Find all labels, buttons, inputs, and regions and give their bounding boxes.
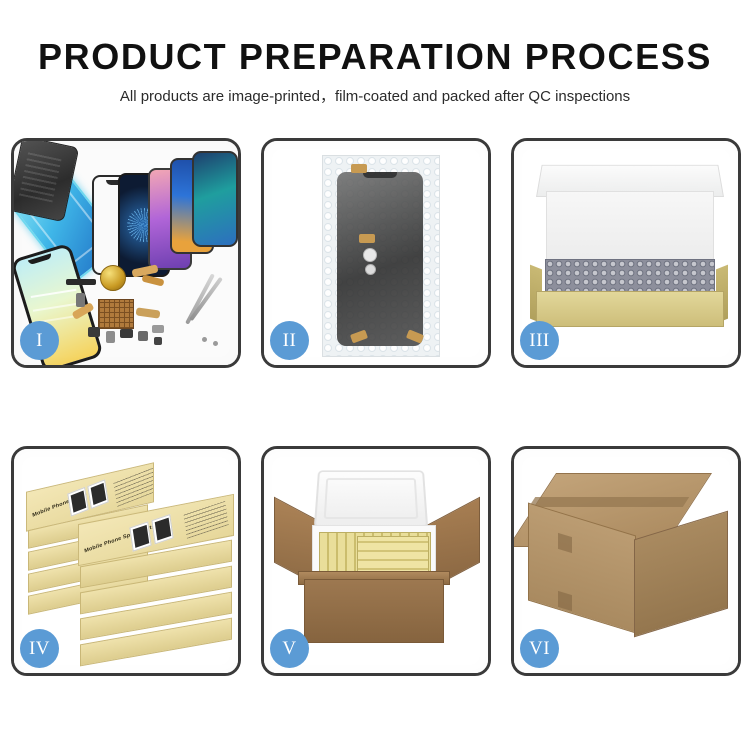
carton-front-image	[304, 579, 444, 643]
carton-sealing-tape-image	[529, 497, 689, 507]
foam-lid-image	[314, 470, 428, 528]
chip-array-image	[98, 299, 134, 329]
earpiece-speaker-image	[66, 279, 96, 285]
process-step-panel-6[interactable]: VI	[511, 446, 741, 676]
box-back-wall-image	[546, 191, 714, 263]
box-spec-list-image	[113, 466, 154, 507]
box-phone-thumbnail-image	[151, 514, 173, 544]
small-component-image	[154, 337, 162, 345]
page-subtitle: All products are image-printed，film-coat…	[0, 87, 750, 107]
sensor-module-image	[365, 264, 376, 275]
small-component-image	[106, 331, 115, 343]
box-phone-thumbnail-image	[67, 487, 89, 517]
step-badge-4: IV	[20, 629, 59, 668]
bubble-wrap-bag-image	[322, 155, 440, 357]
screen-assembly-image	[337, 172, 423, 346]
small-component-image	[76, 293, 85, 307]
small-component-image	[152, 325, 164, 333]
step-badge-5: V	[270, 629, 309, 668]
process-step-panel-4[interactable]: Mobile Phone Spare Parts Mobile Phone Sp…	[11, 446, 241, 676]
small-component-image	[138, 331, 148, 341]
flex-cable-image	[136, 307, 161, 318]
box-front-panel-image	[536, 291, 724, 327]
camera-module-image	[363, 248, 377, 262]
phone-teal-display-image	[192, 151, 238, 247]
flex-connector-image	[359, 234, 375, 243]
page-header: PRODUCT PREPARATION PROCESS All products…	[0, 0, 750, 107]
process-step-panel-5[interactable]: V	[261, 446, 491, 676]
box-phone-thumbnail-image	[129, 521, 151, 551]
process-step-panel-2[interactable]: II	[261, 138, 491, 368]
step-badge-1: I	[20, 321, 59, 360]
small-component-image	[88, 327, 100, 337]
screws-image	[200, 333, 222, 347]
vibration-motor-image	[100, 265, 126, 291]
process-steps-grid: I II III	[11, 138, 741, 676]
bubble-wrapped-contents-image	[545, 259, 715, 295]
process-step-panel-1[interactable]: I	[11, 138, 241, 368]
box-phone-thumbnail-image	[87, 479, 109, 509]
step-badge-2: II	[270, 321, 309, 360]
page-title: PRODUCT PREPARATION PROCESS	[0, 36, 750, 78]
box-spec-list-image	[183, 500, 228, 539]
small-component-image	[120, 329, 133, 338]
step-badge-6: VI	[520, 629, 559, 668]
step-badge-3: III	[520, 321, 559, 360]
process-step-panel-3[interactable]: III	[511, 138, 741, 368]
flex-connector-image	[351, 164, 367, 173]
